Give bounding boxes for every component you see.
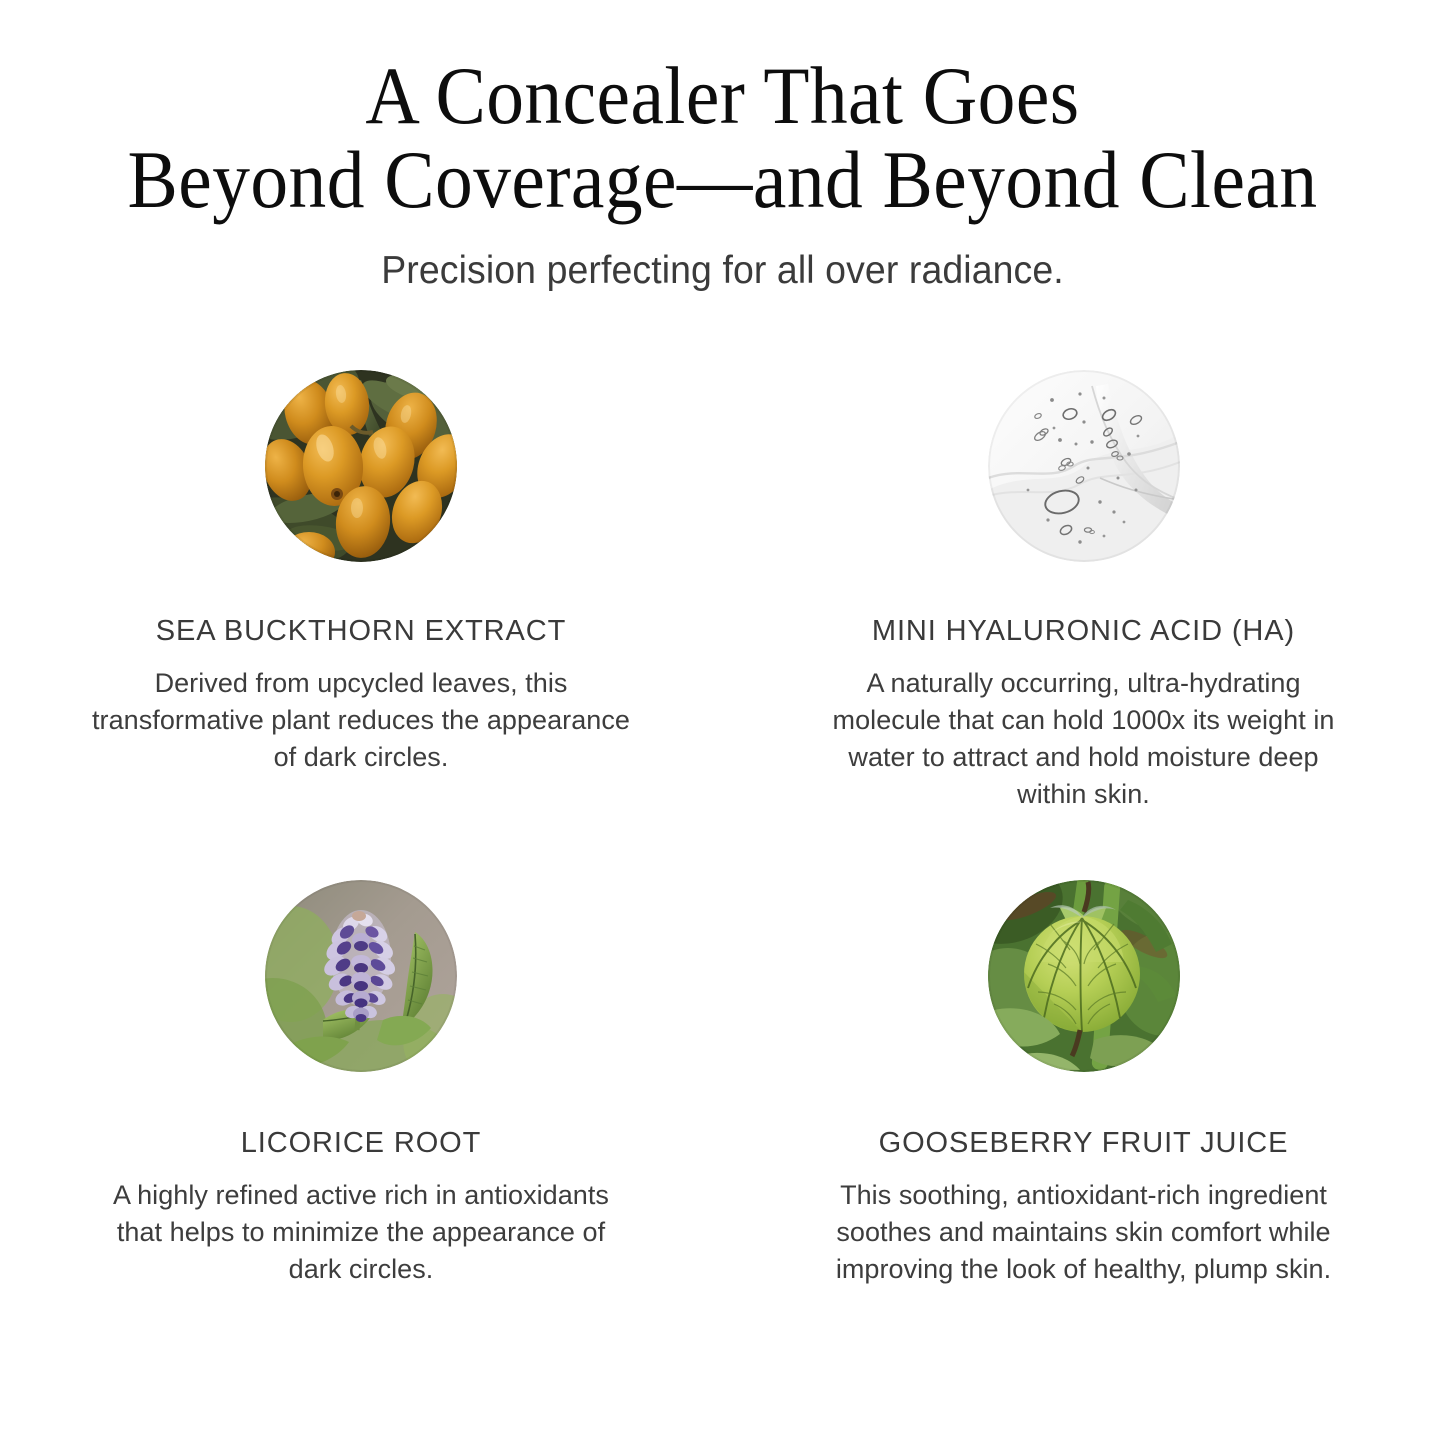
ingredient-card-hyaluronic-acid: MINI HYALURONIC ACID (HA) A naturally oc… xyxy=(722,352,1445,864)
ingredient-description: A naturally occurring, ultra-hydrating m… xyxy=(814,665,1354,813)
ingredient-title: MINI HYALURONIC ACID (HA) xyxy=(872,614,1295,648)
ingredient-card-licorice-root: LICORICE ROOT A highly refined active ri… xyxy=(0,864,722,1288)
page-subtitle: Precision perfecting for all over radian… xyxy=(29,248,1416,294)
ingredient-title: GOOSEBERRY FRUIT JUICE xyxy=(879,1126,1289,1160)
headline-line-1: A Concealer That Goes xyxy=(58,54,1387,138)
marketing-infographic-page: A Concealer That Goes Beyond Coverage—an… xyxy=(0,0,1445,1445)
page-title: A Concealer That Goes Beyond Coverage—an… xyxy=(58,54,1387,222)
ingredient-title: LICORICE ROOT xyxy=(241,1126,482,1160)
hyaluronic-acid-gel-texture-photo xyxy=(988,370,1180,562)
licorice-root-flower-photo xyxy=(265,880,457,1072)
ingredient-title: SEA BUCKTHORN EXTRACT xyxy=(156,614,566,648)
ingredient-card-gooseberry: GOOSEBERRY FRUIT JUICE This soothing, an… xyxy=(722,864,1445,1288)
ingredient-card-sea-buckthorn: SEA BUCKTHORN EXTRACT Derived from upcyc… xyxy=(0,352,722,864)
header: A Concealer That Goes Beyond Coverage—an… xyxy=(0,54,1445,294)
ingredient-description: This soothing, antioxidant-rich ingredie… xyxy=(814,1177,1354,1288)
ingredient-description: A highly refined active rich in antioxid… xyxy=(91,1177,631,1288)
sea-buckthorn-berries-photo xyxy=(265,370,457,562)
headline-line-2: Beyond Coverage—and Beyond Clean xyxy=(58,138,1387,222)
gooseberry-husk-fruit-photo xyxy=(988,880,1180,1072)
ingredient-description: Derived from upcycled leaves, this trans… xyxy=(91,665,631,776)
ingredient-grid: SEA BUCKTHORN EXTRACT Derived from upcyc… xyxy=(0,352,1445,1288)
